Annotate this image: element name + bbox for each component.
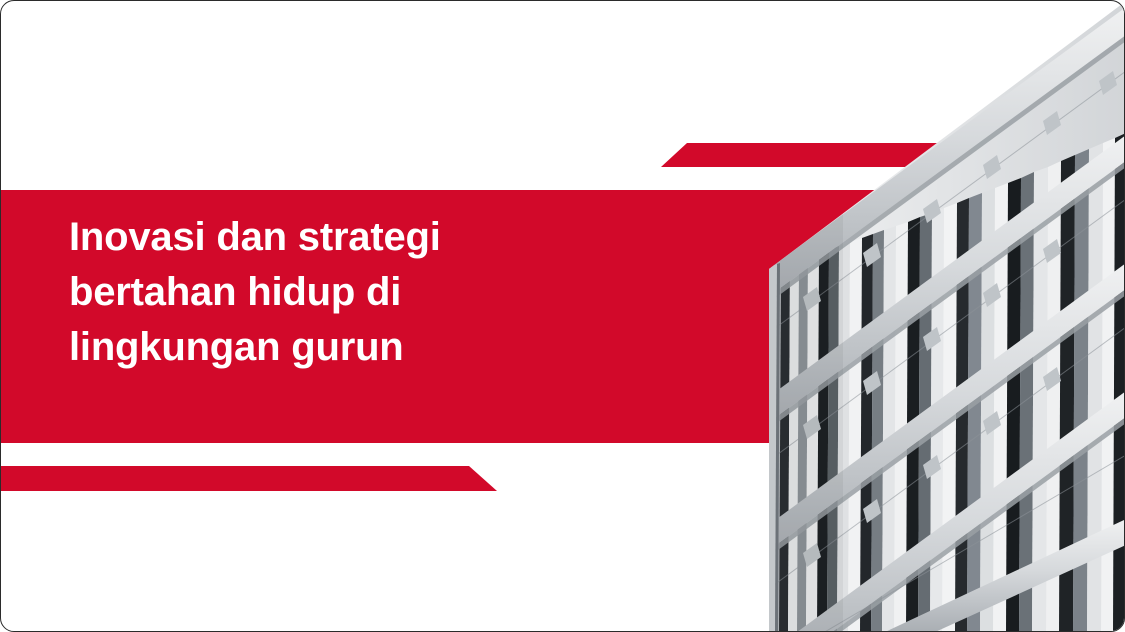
title-line-1: Inovasi dan strategi	[69, 210, 709, 265]
building-photo	[763, 1, 1125, 632]
title-line-3: lingkungan gurun	[69, 320, 709, 375]
bottom-red-accent-bar	[1, 466, 497, 491]
slide-title: Inovasi dan strategi bertahan hidup di l…	[69, 210, 709, 375]
building-facade-illustration	[763, 1, 1125, 632]
title-line-2: bertahan hidup di	[69, 265, 709, 320]
presentation-slide: Inovasi dan strategi bertahan hidup di l…	[0, 0, 1125, 632]
